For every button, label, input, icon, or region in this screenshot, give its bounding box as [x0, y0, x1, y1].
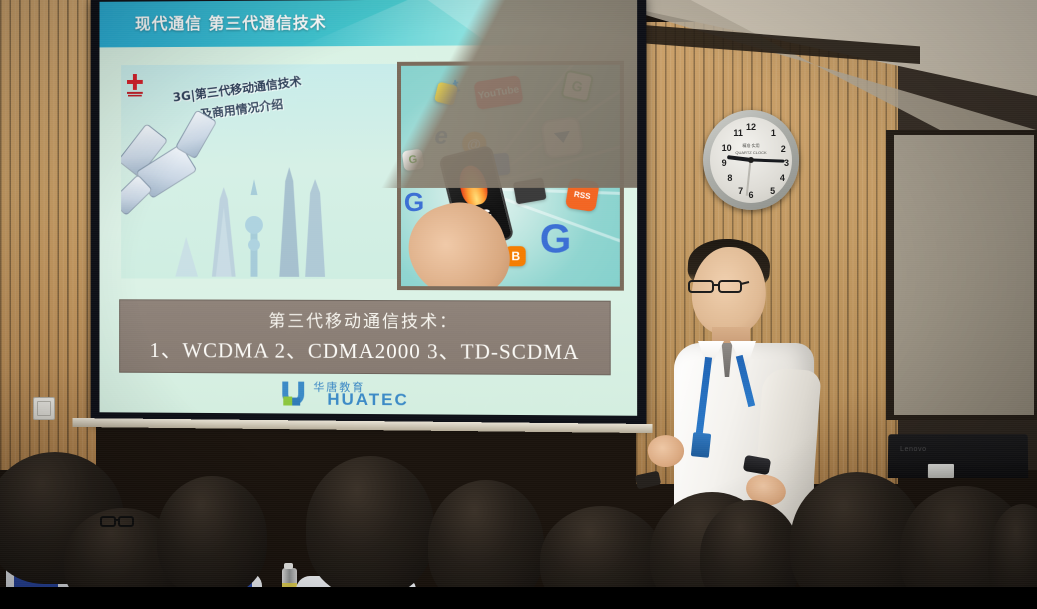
slide-right-image-inner: YouTube t G e [401, 65, 620, 287]
clock-numeral-10: 10 [721, 143, 733, 153]
classroom-photo: 精准·实用 QUARTZ CLOCK 12 1 2 3 4 5 6 7 8 9 … [0, 0, 1037, 609]
clock-numeral-1: 1 [767, 128, 779, 138]
presenter-clicker [635, 471, 661, 490]
youtube-icon: YouTube [473, 75, 523, 110]
slide-title: 现代通信 第三代通信技术 [135, 9, 327, 34]
glasses-icon [688, 279, 750, 294]
red-cross-logo-icon [124, 73, 146, 99]
clock-numeral-11: 11 [732, 128, 744, 138]
google-plus-icon-small: G [402, 148, 425, 171]
blogger-label: B [511, 250, 520, 264]
google-icon-small: G [401, 189, 427, 215]
clapperboard-icon [513, 178, 547, 205]
slide-text-box: 第三代移动通信技术： 1、WCDMA 2、CDMA2000 3、TD-SCDMA [119, 299, 611, 375]
music-icon [434, 81, 458, 105]
google-plus-label: G [570, 77, 584, 95]
slide-right-image: YouTube t G e [397, 61, 624, 291]
clock-numeral-2: 2 [777, 144, 789, 154]
laptop[interactable]: Lenovo [888, 434, 1029, 478]
clock-numeral-9: 9 [718, 158, 730, 168]
rss-icon: RSS [565, 178, 600, 213]
huatec-logo-mark-icon [280, 380, 308, 408]
skyline-silhouette [121, 159, 409, 279]
flame-icon [455, 162, 490, 207]
internet-explorer-icon: e [427, 123, 455, 151]
clock-numeral-12: 12 [745, 122, 757, 132]
google-label: G [540, 217, 571, 262]
whiteboard-surface [894, 135, 1034, 415]
huatec-logo: 华唐教育 HUATEC [99, 379, 637, 410]
clock-minute-hand [751, 159, 784, 163]
student-head-4 [306, 456, 434, 596]
slide-text-line-1: 第三代移动通信技术： [120, 306, 610, 333]
projection-screen-surface: 现代通信 第三代通信技术 3G|第三代移动通信技术 及商用情况介绍 [99, 0, 637, 416]
letterbox-bottom [0, 587, 1037, 609]
whiteboard [886, 130, 1037, 420]
wall-clock: 精准·实用 QUARTZ CLOCK 12 1 2 3 4 5 6 7 8 9 … [703, 110, 799, 210]
video-player-icon [540, 116, 583, 159]
projection-screen: 现代通信 第三代通信技术 3G|第三代移动通信技术 及商用情况介绍 [91, 0, 647, 426]
huatec-logo-en: HUATEC [327, 390, 409, 410]
rss-label: RSS [573, 190, 591, 202]
clock-numeral-8: 8 [724, 173, 736, 183]
light-switch[interactable] [33, 397, 55, 420]
slide-left-image: 3G|第三代移动通信技术 及商用情况介绍 [121, 64, 409, 279]
student-head-3 [157, 476, 267, 596]
slide-text-line-2: 1、WCDMA 2、CDMA2000 3、TD-SCDMA [120, 334, 610, 366]
juice-bottle-cap [284, 563, 293, 569]
laptop-sticker [928, 464, 954, 478]
slide-header-triangle [427, 0, 588, 46]
clock-face: 精准·实用 QUARTZ CLOCK 12 1 2 3 4 5 6 7 8 9 … [710, 117, 792, 203]
youtube-label: YouTube [477, 84, 520, 102]
google-plus-icon: G [560, 69, 594, 102]
clock-numeral-7: 7 [735, 186, 747, 196]
presenter [630, 235, 840, 525]
clock-numeral-4: 4 [776, 173, 788, 183]
google-icon: G [536, 220, 574, 258]
presenter-badge [691, 432, 711, 458]
laptop-brand-label: Lenovo [900, 446, 927, 453]
clock-center-pin [748, 157, 754, 163]
ie-label: e [434, 123, 447, 151]
student-glasses-icon [100, 516, 134, 529]
clock-numeral-5: 5 [767, 186, 779, 196]
slide: 现代通信 第三代通信技术 3G|第三代移动通信技术 及商用情况介绍 [99, 0, 637, 416]
